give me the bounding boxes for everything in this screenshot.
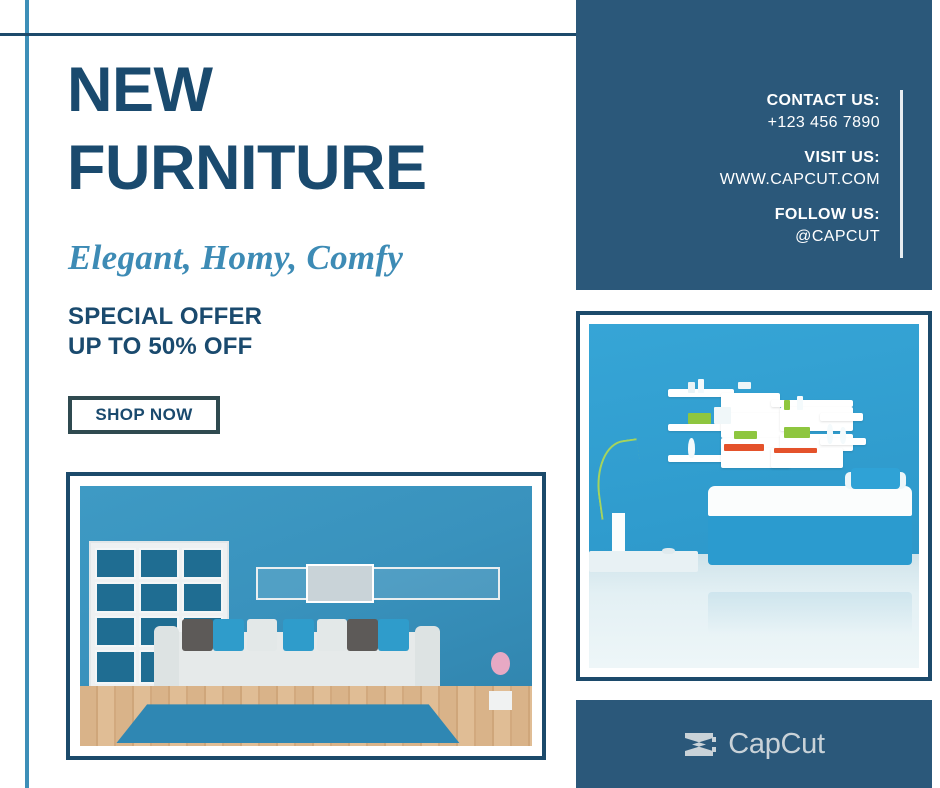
brand-logo-panel: CapCut [576,700,932,788]
wall-shelf [256,567,500,601]
cushion [378,619,409,651]
lamp [688,438,695,459]
shelf-cell [95,616,136,647]
contact-label: CONTACT US: [720,90,880,112]
decor-object [797,396,804,410]
mattress [708,486,913,516]
orchid-plant [482,652,518,709]
contact-group: CONTACT US: +123 456 7890 [720,90,880,133]
contact-group: VISIT US: WWW.CAPCUT.COM [720,147,880,190]
contact-value[interactable]: +123 456 7890 [720,112,880,134]
contact-value[interactable]: WWW.CAPCUT.COM [720,169,880,191]
cushion [317,619,348,651]
left-accent-rule [25,0,29,788]
capcut-hourglass-icon [683,731,717,758]
daybed [708,513,913,565]
red-book [774,448,817,454]
special-offer-text: SPECIAL OFFER UP TO 50% OFF [68,302,262,363]
flower [491,652,510,675]
living-room-photo [80,486,532,746]
cushion [283,619,314,651]
headline-line-2: FURNITURE [67,138,537,198]
decor-object [714,407,731,424]
brand-name: CapCut [728,728,825,761]
shop-now-label: SHOP NOW [95,405,192,425]
tagline: Elegant, Homy, Comfy [68,238,403,278]
cushion [182,619,213,651]
pillow-blue [851,468,900,490]
decor-object [784,400,791,410]
living-room-photo-frame [66,472,546,760]
decor-object [738,382,751,389]
decor-object [688,382,695,392]
shelf-cell [139,548,180,579]
bench-object [662,548,675,555]
shelf-cell [182,582,223,613]
shelf-cell [95,650,136,684]
bedroom-photo-frame [576,311,932,681]
offer-line-2: UP TO 50% OFF [68,332,262,362]
plant-pot [489,691,512,710]
shelf-cell [95,582,136,613]
shelf-cell [139,582,180,613]
contact-label: VISIT US: [720,147,880,169]
area-rug [116,704,460,743]
shelf-cell [95,548,136,579]
contact-divider-rule [900,90,903,258]
green-book [784,427,810,437]
contact-value[interactable]: @CAPCUT [720,226,880,248]
cushion [347,619,378,651]
vase [827,424,834,445]
contact-panel: CONTACT US: +123 456 7890 VISIT US: WWW.… [576,0,932,290]
furniture-sale-poster: NEW FURNITURE Elegant, Homy, Comfy SPECI… [0,0,940,788]
green-book [734,431,757,440]
decor-object [698,379,705,393]
headline-line-1: NEW [67,55,212,125]
cushion [213,619,244,651]
offer-line-1: SPECIAL OFFER [68,302,262,332]
page-title: NEW FURNITURE [67,60,537,199]
red-book [724,444,764,450]
low-bench [589,551,698,572]
contact-details: CONTACT US: +123 456 7890 VISIT US: WWW.… [720,90,880,248]
floor-vase [612,513,625,551]
cushion [247,619,278,651]
bedroom-photo [589,324,919,668]
shop-now-button[interactable]: SHOP NOW [68,396,220,434]
contact-label: FOLLOW US: [720,204,880,226]
wall-shelf-box [306,564,374,603]
floor-reflection [708,592,913,633]
green-book [688,413,711,423]
contact-group: FOLLOW US: @CAPCUT [720,204,880,247]
floating-shelf [820,413,863,421]
shelf-cell [182,548,223,579]
